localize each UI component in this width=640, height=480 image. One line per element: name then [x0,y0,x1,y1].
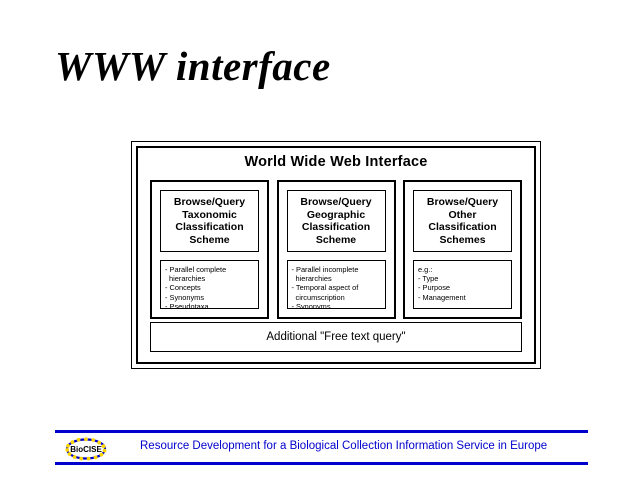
list-item: - Purpose [418,283,509,292]
column-other-schemes-header-line: Browse/Query [427,196,498,209]
column-taxonomic-header-line: Classification [175,221,243,234]
column-other-schemes: Browse/Query Other Classification Scheme… [403,180,522,319]
list-item: - Parallel complete [165,265,256,274]
diagram-inner-frame: World Wide Web Interface Browse/Query Ta… [136,146,536,364]
column-taxonomic: Browse/Query Taxonomic Classification Sc… [150,180,269,319]
free-text-query-box: Additional "Free text query" [150,322,522,352]
www-interface-diagram: World Wide Web Interface Browse/Query Ta… [131,141,541,369]
page-title: WWW interface [55,43,331,89]
list-item: - Parallel incomplete [292,265,383,274]
column-geographic-header-line: Geographic [307,209,365,222]
diagram-columns: Browse/Query Taxonomic Classification Sc… [150,180,522,319]
list-item: circumscription [292,293,383,302]
diagram-heading: World Wide Web Interface [138,154,534,170]
column-geographic-details: - Parallel incomplete hierarchies - Temp… [287,260,386,309]
list-item: e.g.: [418,265,509,274]
list-item: hierarchies [292,274,383,283]
list-item: - Synonyms [292,302,383,309]
svg-text:BioCISE: BioCISE [70,445,102,454]
column-geographic-header-line: Scheme [316,234,356,247]
column-other-schemes-details: e.g.: - Type - Purpose - Management [413,260,512,309]
footer-divider-bottom [55,462,588,465]
column-geographic-header-line: Browse/Query [300,196,371,209]
list-item: hierarchies [165,274,256,283]
column-other-schemes-header-line: Classification [428,221,496,234]
list-item: - Pseudotaxa [165,302,256,309]
column-geographic-header-line: Classification [302,221,370,234]
footer-divider-top [55,430,588,433]
column-taxonomic-header-line: Scheme [189,234,229,247]
column-other-schemes-header-line: Other [448,209,476,222]
column-taxonomic-header: Browse/Query Taxonomic Classification Sc… [160,190,259,252]
column-taxonomic-header-line: Browse/Query [174,196,245,209]
footer-tagline: Resource Development for a Biological Co… [140,440,547,452]
list-item: - Management [418,293,509,302]
column-taxonomic-header-line: Taxonomic [182,209,237,222]
list-item: - Temporal aspect of [292,283,383,292]
column-other-schemes-header-line: Schemes [439,234,485,247]
column-taxonomic-details: - Parallel complete hierarchies - Concep… [160,260,259,309]
column-other-schemes-header: Browse/Query Other Classification Scheme… [413,190,512,252]
biocise-logo: BioCISE [64,436,108,462]
column-geographic-header: Browse/Query Geographic Classification S… [287,190,386,252]
list-item: - Concepts [165,283,256,292]
list-item: - Type [418,274,509,283]
list-item: - Synonyms [165,293,256,302]
column-geographic: Browse/Query Geographic Classification S… [277,180,396,319]
